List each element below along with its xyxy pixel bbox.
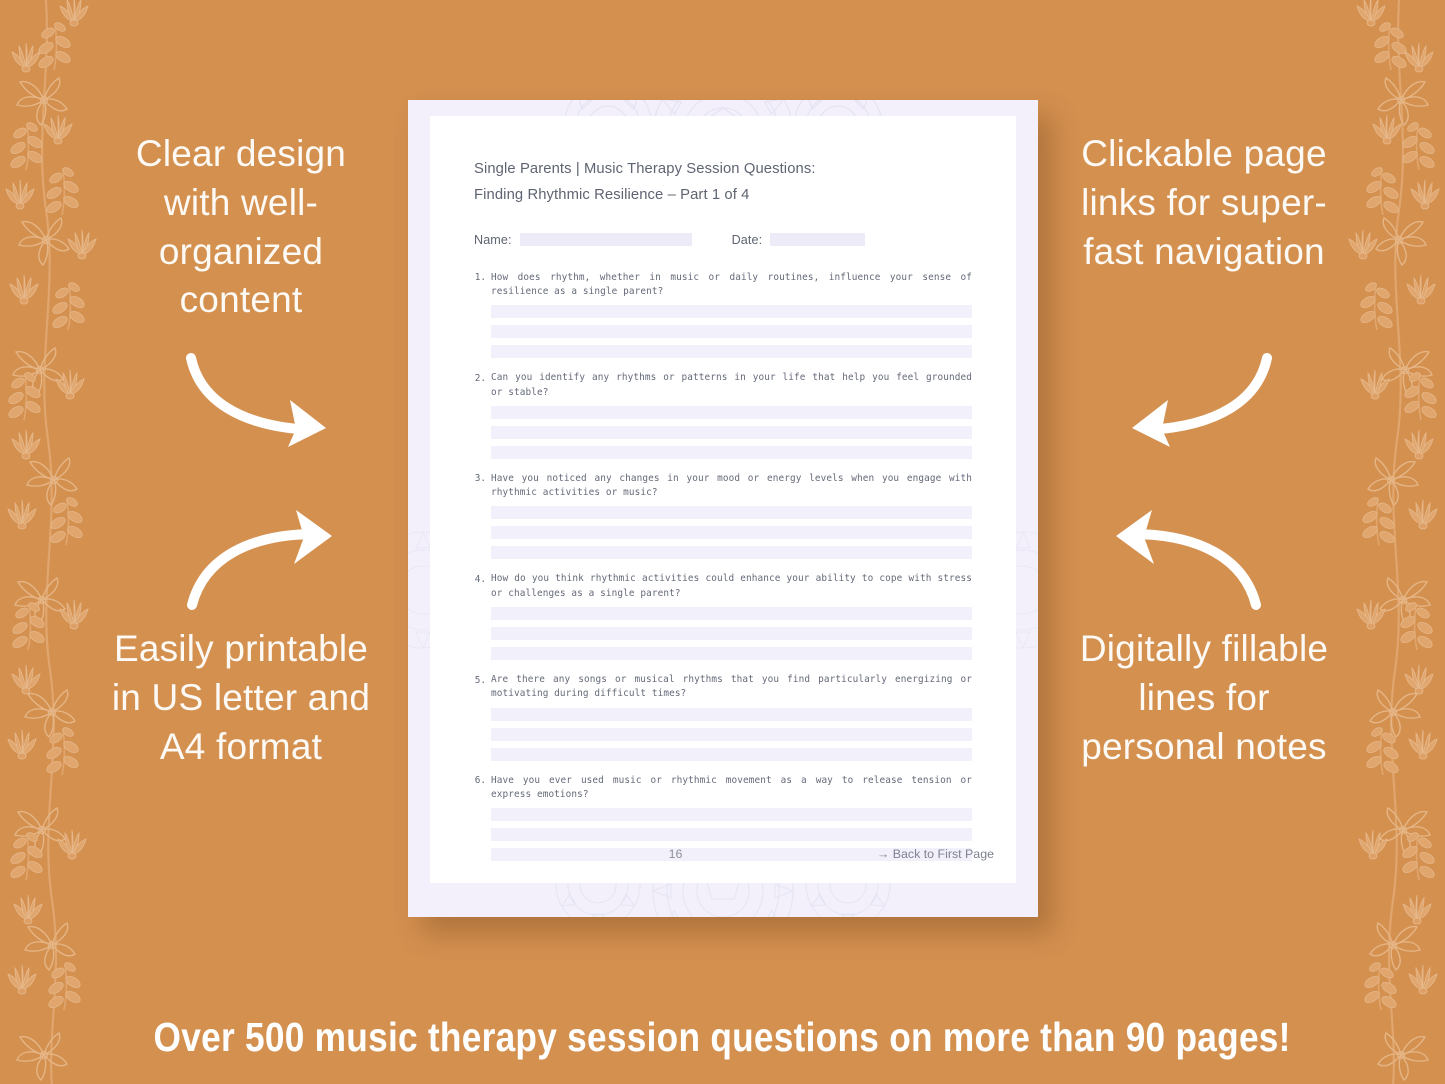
question-row: 2.Can you identify any rhythms or patter… xyxy=(474,371,972,400)
date-input[interactable] xyxy=(770,233,865,246)
answer-line[interactable] xyxy=(491,728,972,741)
answer-line[interactable] xyxy=(491,305,972,318)
answer-lines xyxy=(491,708,972,761)
question-text: How does rhythm, whether in music or dai… xyxy=(491,271,972,300)
document-preview-card[interactable]: Single Parents | Music Therapy Session Q… xyxy=(408,100,1038,917)
curved-arrow-bottom-left-icon xyxy=(180,508,356,613)
annotation-fillable-lines: Digitally fillable lines for personal no… xyxy=(1068,625,1340,771)
name-label: Name: xyxy=(474,233,512,247)
curved-arrow-top-right-icon xyxy=(1104,352,1280,457)
bottom-banner: Over 500 music therapy session questions… xyxy=(0,990,1445,1084)
question-number: 3. xyxy=(474,472,491,487)
question-number: 4. xyxy=(474,572,491,587)
answer-line[interactable] xyxy=(491,406,972,419)
document-title-line-1: Single Parents | Music Therapy Session Q… xyxy=(474,156,972,182)
answer-line[interactable] xyxy=(491,828,972,841)
answer-line[interactable] xyxy=(491,345,972,358)
answer-line[interactable] xyxy=(491,546,972,559)
question-block: 4.How do you think rhythmic activities c… xyxy=(474,572,972,660)
floral-border-left xyxy=(0,0,116,1084)
question-number: 6. xyxy=(474,774,491,789)
document-title-line-2: Finding Rhythmic Resilience – Part 1 of … xyxy=(474,182,972,208)
question-row: 4.How do you think rhythmic activities c… xyxy=(474,572,972,601)
answer-line[interactable] xyxy=(491,748,972,761)
answer-lines xyxy=(491,607,972,660)
question-number: 5. xyxy=(474,673,491,688)
answer-line[interactable] xyxy=(491,647,972,660)
question-text: Have you noticed any changes in your moo… xyxy=(491,472,972,501)
question-number: 1. xyxy=(474,271,491,286)
document-title: Single Parents | Music Therapy Session Q… xyxy=(474,156,972,209)
annotation-easily-printable: Easily printable in US letter and A4 for… xyxy=(105,625,377,771)
question-text: Are there any songs or musical rhythms t… xyxy=(491,673,972,702)
answer-line[interactable] xyxy=(491,426,972,439)
floral-border-right xyxy=(1329,0,1445,1084)
question-text: Can you identify any rhythms or patterns… xyxy=(491,371,972,400)
question-text: How do you think rhythmic activities cou… xyxy=(491,572,972,601)
date-label: Date: xyxy=(732,233,763,247)
name-date-row: Name: Date: xyxy=(474,233,972,247)
document-footer: 16 → Back to First Page xyxy=(474,847,994,861)
answer-line[interactable] xyxy=(491,526,972,539)
question-row: 6.Have you ever used music or rhythmic m… xyxy=(474,774,972,803)
question-block: 1.How does rhythm, whether in music or d… xyxy=(474,271,972,359)
answer-line[interactable] xyxy=(491,708,972,721)
curved-arrow-top-left-icon xyxy=(178,352,354,457)
answer-line[interactable] xyxy=(491,506,972,519)
answer-line[interactable] xyxy=(491,607,972,620)
answer-line[interactable] xyxy=(491,808,972,821)
question-row: 5.Are there any songs or musical rhythms… xyxy=(474,673,972,702)
question-text: Have you ever used music or rhythmic mov… xyxy=(491,774,972,803)
question-row: 1.How does rhythm, whether in music or d… xyxy=(474,271,972,300)
banner-text: Over 500 music therapy session questions… xyxy=(154,1014,1291,1061)
page-number: 16 xyxy=(669,847,683,861)
worksheet-page: Single Parents | Music Therapy Session Q… xyxy=(430,116,1016,883)
curved-arrow-bottom-right-icon xyxy=(1092,508,1268,613)
name-input[interactable] xyxy=(520,233,692,246)
question-row: 3.Have you noticed any changes in your m… xyxy=(474,472,972,501)
annotation-clear-design: Clear design with well-organized content xyxy=(105,130,377,325)
questions-list: 1.How does rhythm, whether in music or d… xyxy=(474,271,972,862)
answer-lines xyxy=(491,506,972,559)
question-block: 2.Can you identify any rhythms or patter… xyxy=(474,371,972,459)
annotation-clickable-links: Clickable page links for super-fast navi… xyxy=(1068,130,1340,276)
answer-lines xyxy=(491,305,972,358)
answer-lines xyxy=(491,406,972,459)
question-block: 5.Are there any songs or musical rhythms… xyxy=(474,673,972,761)
answer-line[interactable] xyxy=(491,446,972,459)
back-to-first-page-link[interactable]: → Back to First Page xyxy=(877,847,994,861)
question-number: 2. xyxy=(474,371,491,386)
answer-line[interactable] xyxy=(491,325,972,338)
answer-line[interactable] xyxy=(491,627,972,640)
question-block: 3.Have you noticed any changes in your m… xyxy=(474,472,972,560)
